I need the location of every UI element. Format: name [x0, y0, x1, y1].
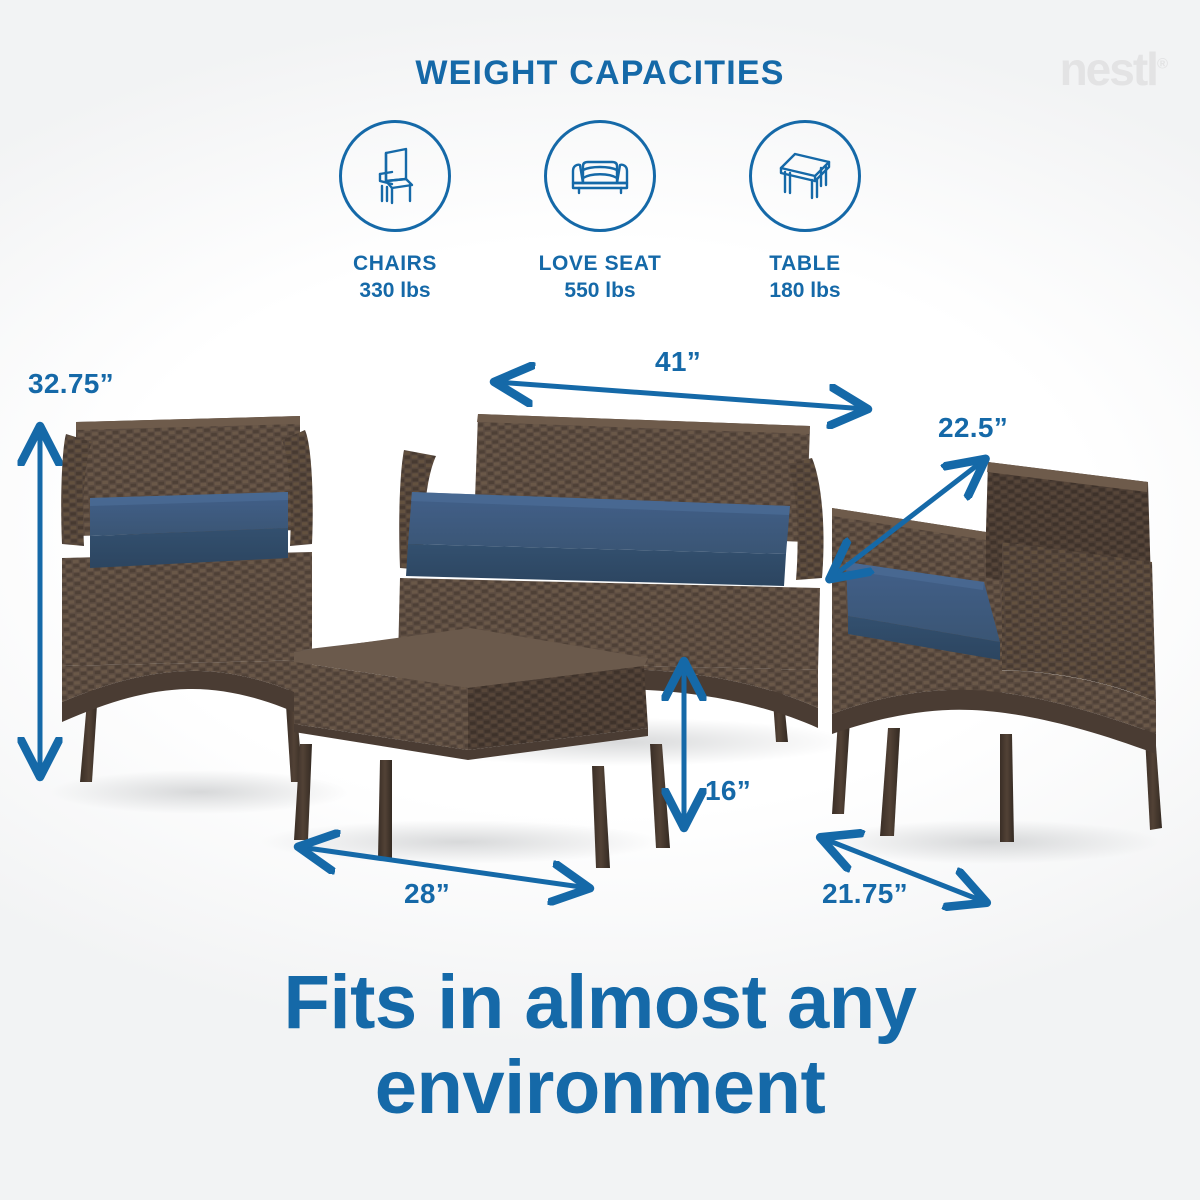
table-icon: [769, 140, 841, 212]
dimension-label-table-height: 16”: [705, 775, 751, 807]
headline: Fits in almost any environment: [0, 960, 1200, 1130]
capacity-item-table: TABLE 180 lbs: [710, 120, 900, 303]
left-chair: [61, 416, 313, 782]
table-leg-back-left: [378, 760, 392, 858]
page-title: WEIGHT CAPACITIES: [0, 54, 1200, 93]
dimension-label-chair-height: 32.75”: [28, 368, 114, 400]
capacity-item-loveseat: LOVE SEAT 550 lbs: [505, 120, 695, 303]
loveseat-icon: [563, 139, 637, 213]
table-icon-circle: [749, 120, 861, 232]
right-chair: [832, 462, 1162, 842]
dimension-label-chair-depth: 21.75”: [822, 878, 908, 910]
right-chair-leg-front-right: [1000, 734, 1014, 842]
right-chair-leg-front-left: [880, 728, 900, 836]
infographic-page: nestl® WEIGHT CAPACITIES: [0, 0, 1200, 1200]
dimension-label-loveseat-width: 41”: [655, 346, 701, 378]
capacity-item-chairs: CHAIRS 330 lbs: [300, 120, 490, 303]
headline-line-2: environment: [0, 1045, 1200, 1130]
capacity-value-loveseat: 550 lbs: [564, 279, 635, 303]
shadow-right-chair: [820, 820, 1160, 864]
furniture-scene: [0, 330, 1200, 940]
headline-line-1: Fits in almost any: [0, 960, 1200, 1045]
capacity-label-loveseat: LOVE SEAT: [539, 252, 662, 276]
capacity-value-table: 180 lbs: [769, 279, 840, 303]
capacity-label-chairs: CHAIRS: [353, 252, 437, 276]
left-chair-seat-base: [62, 552, 312, 666]
capacity-list: CHAIRS 330 lbs LOVE: [300, 120, 900, 303]
capacity-label-table: TABLE: [769, 252, 840, 276]
capacity-value-chairs: 330 lbs: [359, 279, 430, 303]
loveseat-icon-circle: [544, 120, 656, 232]
dimension-label-loveseat-depth: 22.5”: [938, 412, 1008, 444]
dimension-label-table-width: 28”: [404, 878, 450, 910]
chair-icon: [360, 141, 430, 211]
chair-icon-circle: [339, 120, 451, 232]
